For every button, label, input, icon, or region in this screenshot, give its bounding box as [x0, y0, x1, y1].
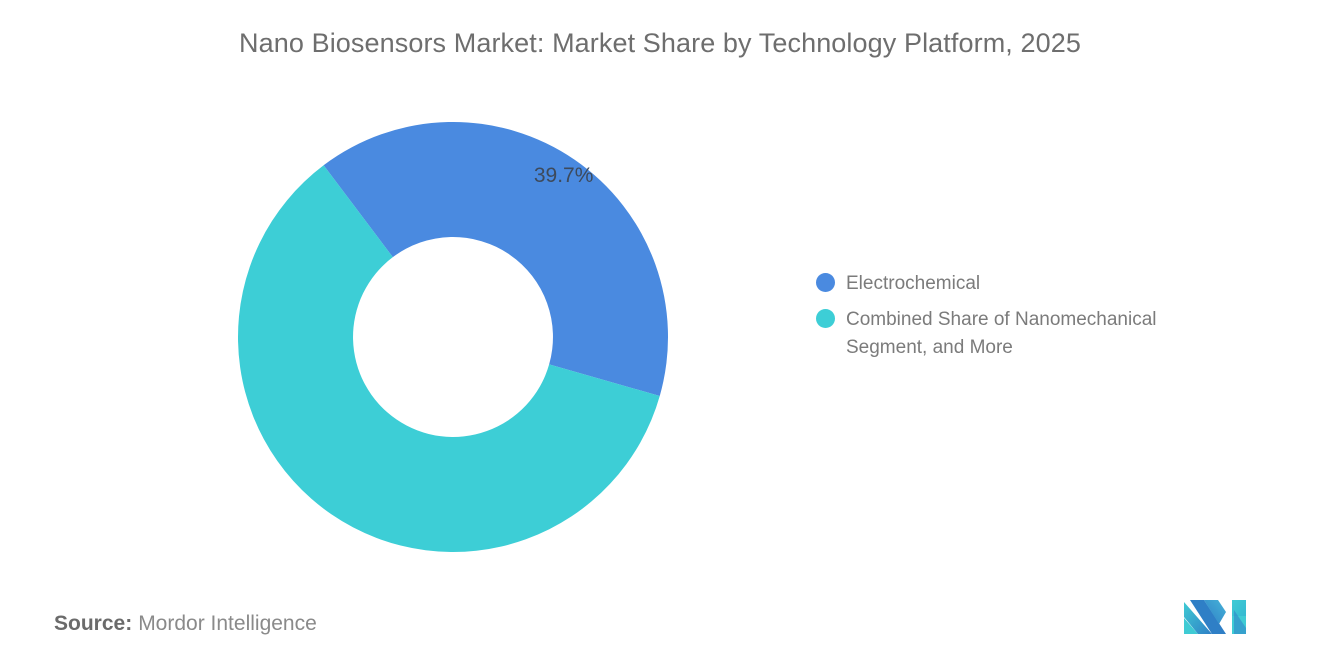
legend-label-1: Combined Share of Nanomechanical Segment…	[846, 306, 1221, 362]
chart-legend: Electrochemical Combined Share of Nanome…	[816, 270, 1256, 370]
source-value: Mordor Intelligence	[138, 612, 317, 635]
source-label: Source:	[54, 612, 132, 635]
donut-chart-svg	[238, 122, 668, 552]
legend-swatch-icon-1	[816, 309, 835, 328]
legend-item-electrochemical[interactable]: Electrochemical	[816, 270, 1256, 298]
legend-item-combined-share[interactable]: Combined Share of Nanomechanical Segment…	[816, 306, 1256, 362]
legend-label-0: Electrochemical	[846, 270, 980, 298]
mordor-intelligence-logo-icon	[1182, 596, 1256, 638]
donut-slices	[238, 122, 668, 552]
page-title: Nano Biosensors Market: Market Share by …	[0, 28, 1320, 59]
legend-swatch-icon-0	[816, 273, 835, 292]
source-attribution: Source:Mordor Intelligence	[54, 612, 317, 636]
donut-chart: 39.7%	[238, 122, 668, 552]
